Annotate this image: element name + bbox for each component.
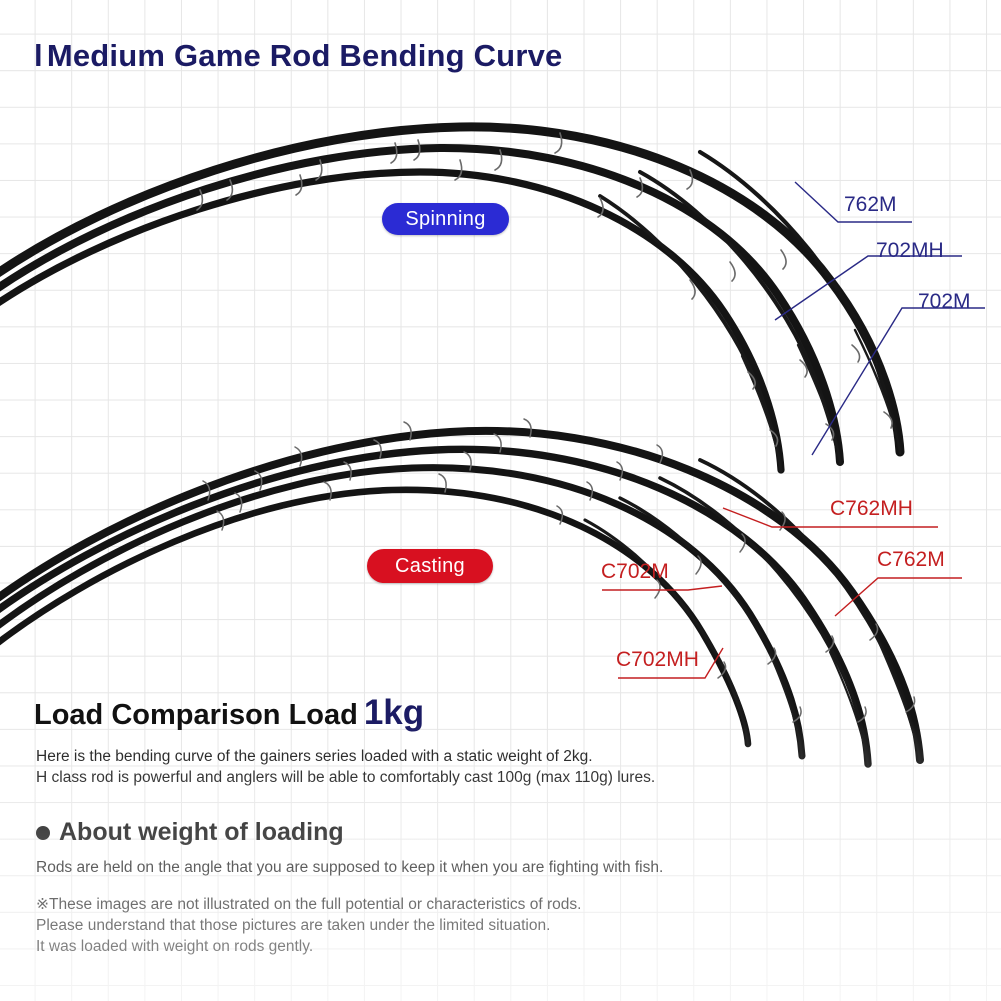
- about-loading-heading-text: About weight of loading: [59, 818, 344, 847]
- about-loading-heading: About weight of loading: [36, 818, 344, 847]
- rod-label-702m: 702M: [918, 291, 971, 312]
- rod-curve-c762m-taper: [660, 478, 868, 765]
- spinning-rod-guides: [197, 133, 892, 446]
- load-description: Here is the bending curve of the gainers…: [36, 746, 655, 788]
- rod-curve-c762m-tip: [830, 652, 868, 766]
- rod-curve-c702mh-taper: [585, 520, 748, 745]
- load-description-line-2: H class rod is powerful and anglers will…: [36, 767, 655, 788]
- rod-label-762m: 762M: [844, 194, 897, 215]
- disclaimer-note: ※These images are not illustrated on the…: [36, 894, 581, 957]
- disclaimer-line-1: ※These images are not illustrated on the…: [36, 894, 581, 915]
- disclaimer-line-2: Please understand that those pictures ar…: [36, 915, 581, 936]
- rod-curve-702m-tip: [742, 356, 781, 471]
- bullet-dot-icon: [36, 826, 50, 840]
- spinning-rod-group: [0, 127, 900, 471]
- rod-label-c702m: C702M: [601, 561, 669, 582]
- rod-label-702mh: 702MH: [876, 240, 944, 261]
- rod-curve-702m-taper: [600, 196, 781, 471]
- leader-line-c702m: [602, 586, 722, 590]
- badge-casting: Casting: [367, 549, 493, 583]
- badge-spinning: Spinning: [382, 203, 509, 235]
- about-loading-line: Rods are held on the angle that you are …: [36, 857, 663, 878]
- diagram-canvas: lMedium Game Rod Bending Curve: [0, 0, 1001, 1001]
- load-comparison-label: Load Comparison Load: [34, 699, 358, 731]
- rod-curve-c702m-taper: [620, 498, 802, 757]
- rod-curve-702mh-taper: [640, 172, 840, 463]
- casting-rod-guides: [203, 419, 915, 722]
- spinning-leader-lines: [775, 182, 985, 455]
- rod-label-c702mh: C702MH: [616, 649, 699, 670]
- rod-label-c762mh: C762MH: [830, 498, 913, 519]
- disclaimer-line-3: It was loaded with weight on rods gently…: [36, 936, 581, 957]
- load-description-line-1: Here is the bending curve of the gainers…: [36, 746, 655, 767]
- load-value: 1kg: [364, 693, 424, 732]
- rod-curve-c762mh-tip: [878, 640, 920, 762]
- load-comparison-heading: Load Comparison Load1kg: [34, 693, 424, 733]
- rod-label-c762m: C762M: [877, 549, 945, 570]
